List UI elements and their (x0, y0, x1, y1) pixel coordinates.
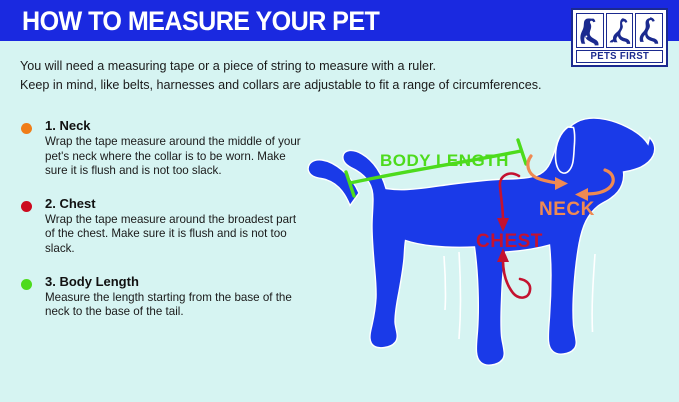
step-item-chest: 2. Chest Wrap the tape measure around th… (21, 196, 301, 257)
step-title-neck: 1. Neck (45, 118, 301, 134)
dog-sitting-alert-icon (635, 13, 663, 48)
label-neck: NECK (539, 199, 595, 220)
page-title: HOW TO MEASURE YOUR PET (22, 6, 379, 37)
bullet-chest-icon (21, 201, 32, 212)
bullet-body-length-icon (21, 279, 32, 290)
step-body-body-length: Measure the length starting from the bas… (45, 291, 301, 320)
logo-icon-row (576, 13, 663, 48)
dog-begging-icon (606, 13, 634, 48)
step-body-chest: Wrap the tape measure around the broades… (45, 213, 301, 257)
measurement-steps-list: 1. Neck Wrap the tape measure around the… (21, 118, 301, 337)
step-item-neck: 1. Neck Wrap the tape measure around the… (21, 118, 301, 179)
logo-wordmark: PETS FIRST (576, 50, 663, 63)
measure-pet-infographic: HOW TO MEASURE YOUR PET (0, 0, 679, 402)
label-chest: CHEST (476, 231, 543, 252)
dog-sitting-icon (576, 13, 604, 48)
step-title-body-length: 3. Body Length (45, 274, 301, 290)
label-body-length: BODY LENGTH (380, 151, 509, 170)
dog-measurement-diagram: BODY LENGTH NECK CHEST (296, 104, 679, 402)
step-body-neck: Wrap the tape measure around the middle … (45, 135, 301, 179)
brand-logo: PETS FIRST (571, 8, 668, 67)
intro-line-2: Keep in mind, like belts, harnesses and … (20, 76, 565, 95)
logo-wordmark-text: PETS FIRST (590, 51, 649, 62)
intro-text: You will need a measuring tape or a piec… (20, 57, 565, 95)
step-title-chest: 2. Chest (45, 196, 301, 212)
bullet-neck-icon (21, 123, 32, 134)
intro-line-1: You will need a measuring tape or a piec… (20, 57, 565, 76)
step-item-body-length: 3. Body Length Measure the length starti… (21, 274, 301, 320)
